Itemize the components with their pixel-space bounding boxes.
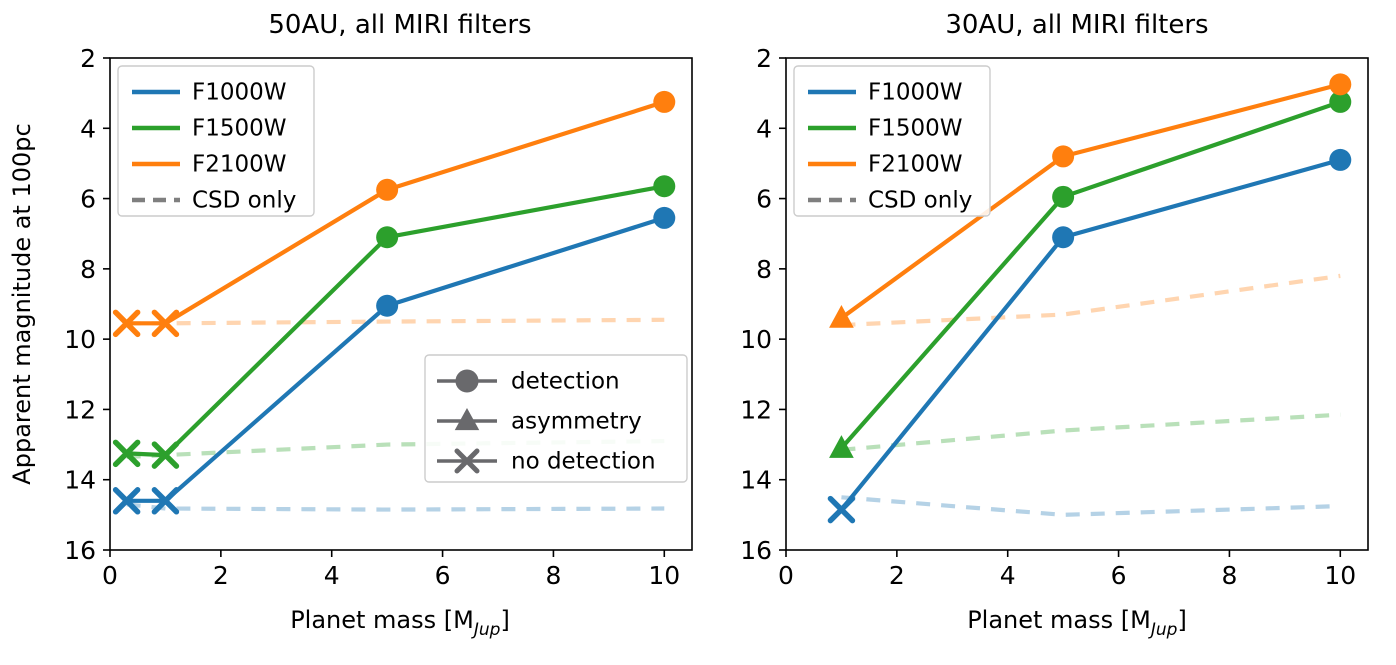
- y-tick-label: 2: [756, 44, 772, 73]
- chart-svg-left: 50AU, all MIRI filters024681024681012141…: [0, 0, 700, 665]
- y-tick-label: 4: [756, 114, 772, 143]
- marker-circle-F2100W: [653, 91, 675, 113]
- chart-svg-right: 30AU, all MIRI filters024681024681012141…: [700, 0, 1396, 665]
- x-tick-label: 10: [1324, 561, 1356, 590]
- y-tick-label: 6: [756, 185, 772, 214]
- marker-legend-circle-icon: [456, 370, 478, 392]
- chart-title: 30AU, all MIRI filters: [945, 10, 1208, 40]
- marker-circle-F1000W: [1329, 149, 1351, 171]
- x-tick-label: 0: [778, 561, 794, 590]
- x-tick-label: 8: [545, 561, 561, 590]
- y-tick-label: 2: [80, 44, 96, 73]
- marker-circle-F1000W: [376, 295, 398, 317]
- x-axis-label: Planet mass [MJup]: [290, 606, 510, 640]
- x-axis-label: Planet mass [MJup]: [967, 606, 1187, 640]
- marker-legend-label-detection: detection: [511, 369, 620, 395]
- y-tick-label: 8: [80, 255, 96, 284]
- legend-label-f1500w: F1500W: [868, 116, 963, 142]
- x-tick-label: 2: [213, 561, 229, 590]
- marker-circle-F1500W: [653, 175, 675, 197]
- marker-triangle-F2100W: [829, 305, 854, 328]
- x-tick-label: 8: [1221, 561, 1237, 590]
- marker-circle-F1000W: [653, 207, 675, 229]
- y-tick-label: 16: [64, 536, 96, 565]
- y-tick-label: 14: [740, 466, 772, 495]
- y-axis-label: Apparent magnitude at 100pc: [8, 123, 36, 484]
- x-tick-label: 6: [435, 561, 451, 590]
- marker-circle-F2100W: [1052, 145, 1074, 167]
- chart-panel-right: 30AU, all MIRI filters024681024681012141…: [700, 0, 1396, 665]
- y-tick-label: 16: [740, 536, 772, 565]
- csd-line-F1000W: [127, 504, 665, 509]
- marker-circle-F1500W: [1052, 186, 1074, 208]
- y-tick-label: 4: [80, 114, 96, 143]
- legend-label-f1500w: F1500W: [192, 116, 287, 142]
- chart-title: 50AU, all MIRI filters: [268, 10, 531, 40]
- y-tick-label: 8: [756, 255, 772, 284]
- marker-cross-F1000W: [830, 499, 852, 521]
- marker-circle-F1500W: [376, 226, 398, 248]
- x-tick-label: 2: [889, 561, 905, 590]
- y-tick-label: 12: [64, 395, 96, 424]
- chart-panel-left: 50AU, all MIRI filters024681024681012141…: [0, 0, 700, 665]
- marker-legend-label-no-detection: no detection: [511, 449, 656, 475]
- y-tick-label: 6: [80, 185, 96, 214]
- legend-label-csd-only: CSD only: [192, 188, 296, 214]
- marker-circle-F2100W: [1329, 73, 1351, 95]
- x-tick-label: 0: [102, 561, 118, 590]
- csd-line-F2100W: [841, 276, 1340, 325]
- legend-label-f2100w: F2100W: [868, 152, 963, 178]
- x-tick-label: 4: [1000, 561, 1016, 590]
- x-tick-label: 6: [1111, 561, 1127, 590]
- legend-label-csd-only: CSD only: [868, 188, 972, 214]
- legend-label-f1000w: F1000W: [868, 80, 963, 106]
- x-tick-label: 4: [324, 561, 340, 590]
- plot-right: 30AU, all MIRI filters024681024681012141…: [740, 10, 1368, 640]
- marker-legend-label-asymmetry: asymmetry: [511, 409, 642, 435]
- csd-line-F2100W: [127, 320, 665, 324]
- legend-label-f1000w: F1000W: [192, 80, 287, 106]
- csd-line-F1000W: [841, 497, 1340, 515]
- legend-label-f2100w: F2100W: [192, 152, 287, 178]
- marker-circle-F2100W: [376, 179, 398, 201]
- y-tick-label: 12: [740, 395, 772, 424]
- y-tick-label: 14: [64, 466, 96, 495]
- y-tick-label: 10: [740, 325, 772, 354]
- figure-canvas: 50AU, all MIRI filters024681024681012141…: [0, 0, 1396, 665]
- y-tick-label: 10: [64, 325, 96, 354]
- x-tick-label: 10: [648, 561, 680, 590]
- marker-circle-F1000W: [1052, 226, 1074, 248]
- plot-left: 50AU, all MIRI filters024681024681012141…: [8, 10, 692, 640]
